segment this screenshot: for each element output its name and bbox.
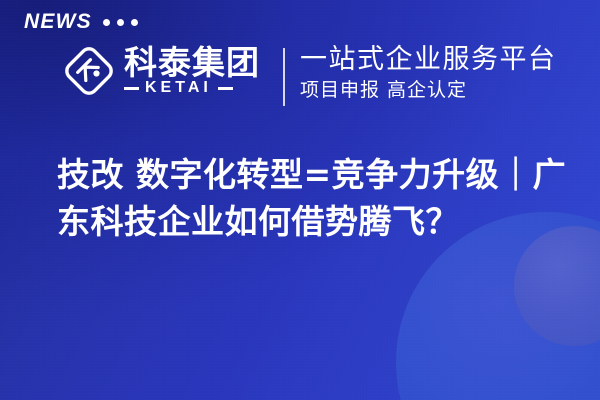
brand-lockup: 科泰集团 KETAI xyxy=(60,42,260,100)
rule-left-icon xyxy=(124,87,139,90)
headline-line-1: 技改 数字化转型=竞争力升级｜广 xyxy=(57,152,562,199)
dot-icon xyxy=(103,19,110,26)
brand-name-cn: 科泰集团 xyxy=(124,46,260,80)
dot-icon xyxy=(131,19,138,26)
eyebrow-dots-icon xyxy=(103,17,138,26)
brand-name-en: KETAI xyxy=(145,80,212,96)
eyebrow: NEWS xyxy=(24,11,138,32)
brand-name-en-row: KETAI xyxy=(124,80,260,96)
vertical-divider-icon xyxy=(283,48,285,106)
headline-line-2: 东科技企业如何借势腾飞？ xyxy=(57,199,562,246)
brand-wordmark: 科泰集团 KETAI xyxy=(124,46,260,97)
dot-icon xyxy=(117,19,124,26)
news-banner: NEWS 科泰集团 KETAI xyxy=(0,0,600,400)
headline: 技改 数字化转型=竞争力升级｜广 东科技企业如何借势腾飞？ xyxy=(57,152,562,246)
ketai-diamond-k-logo-icon xyxy=(60,42,118,100)
rule-right-icon xyxy=(218,87,233,90)
tagline: 一站式企业服务平台 项目申报 高企认定 xyxy=(300,44,557,102)
tagline-sub: 项目申报 高企认定 xyxy=(300,79,557,102)
tagline-main: 一站式企业服务平台 xyxy=(300,44,557,75)
eyebrow-label: NEWS xyxy=(24,11,92,32)
